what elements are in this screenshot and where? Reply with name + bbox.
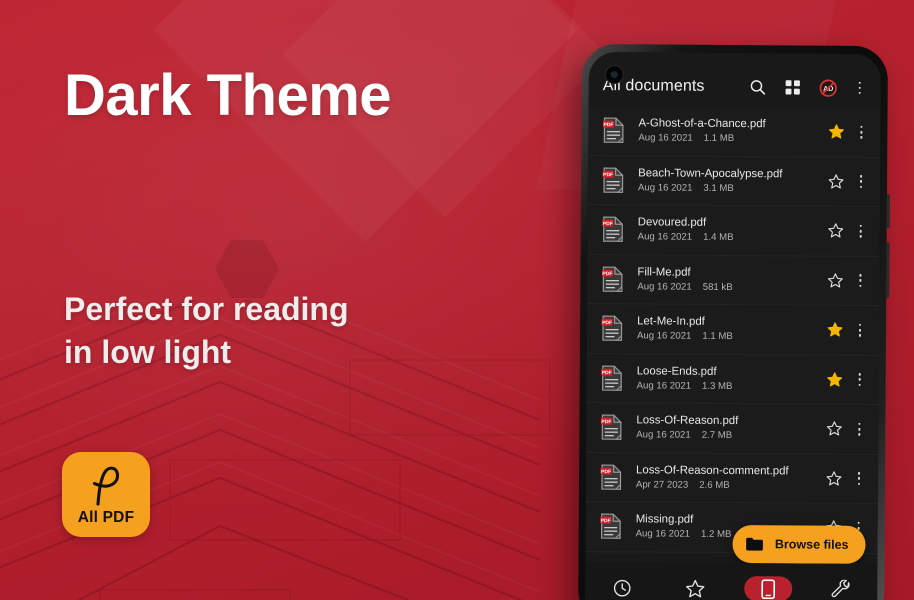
pdf-file-icon: PDF bbox=[601, 266, 624, 292]
file-info: Let-Me-In.pdf Aug 16 2021 1.1 MB bbox=[637, 315, 825, 344]
phone-power-button bbox=[886, 242, 889, 298]
file-date: Aug 16 2021 bbox=[637, 379, 692, 392]
pdf-file-icon: PDF bbox=[602, 117, 625, 143]
file-name: Devoured.pdf bbox=[638, 216, 826, 231]
file-name: Loose-Ends.pdf bbox=[637, 364, 825, 379]
svg-text:PDF: PDF bbox=[603, 221, 613, 227]
file-size: 3.1 MB bbox=[703, 182, 733, 195]
search-icon[interactable] bbox=[748, 77, 768, 97]
app-logo-label: All PDF bbox=[78, 509, 135, 527]
file-subtitle: Aug 16 2021 1.3 MB bbox=[637, 379, 825, 393]
pdf-file-icon: PDF bbox=[602, 167, 625, 193]
pdf-file-icon: PDF bbox=[602, 216, 625, 242]
file-overflow-menu-icon[interactable] bbox=[853, 320, 867, 340]
file-size: 1.2 MB bbox=[701, 528, 731, 541]
phone-mockup: All documents bbox=[578, 44, 888, 600]
phone-volume-button bbox=[887, 194, 890, 228]
browse-files-label: Browse files bbox=[775, 537, 849, 552]
pdf-file-icon: PDF bbox=[602, 167, 625, 193]
file-list-item[interactable]: PDF Devoured.pdf Aug 16 2021 1.4 MB bbox=[588, 205, 880, 257]
pdf-file-icon: PDF bbox=[600, 513, 623, 539]
pdf-file-icon: PDF bbox=[602, 216, 625, 242]
nav-item-pdf-tools[interactable]: PDF tools bbox=[804, 577, 877, 600]
file-list-item[interactable]: PDF Loss-Of-Reason.pdf Aug 16 2021 2.7 M… bbox=[586, 403, 878, 455]
file-name: Loss-Of-Reason-comment.pdf bbox=[636, 463, 824, 478]
no-ads-icon[interactable]: AD bbox=[818, 78, 838, 98]
pdf-file-icon: PDF bbox=[601, 365, 624, 391]
browse-files-button[interactable]: Browse files bbox=[733, 525, 866, 564]
file-list-item[interactable]: PDF Let-Me-In.pdf Aug 16 2021 1.1 MB bbox=[587, 304, 879, 356]
star-outline-icon[interactable] bbox=[826, 221, 846, 241]
pdf-file-icon: PDF bbox=[600, 414, 623, 440]
wrench-icon bbox=[817, 577, 865, 600]
promo-headline: Dark Theme bbox=[64, 66, 391, 127]
file-date: Aug 16 2021 bbox=[638, 231, 693, 244]
star-filled-icon[interactable] bbox=[825, 320, 845, 340]
pdf-file-icon: PDF bbox=[601, 315, 624, 341]
file-subtitle: Aug 16 2021 3.1 MB bbox=[638, 181, 826, 195]
app-bar: All documents bbox=[589, 52, 881, 108]
svg-text:PDF: PDF bbox=[602, 271, 612, 277]
star-filled-icon[interactable] bbox=[826, 122, 846, 142]
phone-icon bbox=[744, 576, 792, 600]
folder-icon bbox=[746, 537, 764, 551]
pdf-file-icon: PDF bbox=[601, 365, 624, 391]
all-pdf-glyph-icon bbox=[86, 464, 126, 508]
file-size: 581 kB bbox=[703, 281, 733, 294]
app-bar-actions: AD bbox=[748, 77, 869, 98]
svg-text:PDF: PDF bbox=[602, 320, 612, 326]
file-subtitle: Aug 16 2021 2.7 MB bbox=[636, 429, 824, 443]
file-date: Aug 16 2021 bbox=[638, 132, 693, 145]
svg-text:PDF: PDF bbox=[601, 469, 611, 475]
pdf-file-icon: PDF bbox=[600, 414, 623, 440]
file-date: Aug 16 2021 bbox=[638, 181, 693, 194]
svg-text:PDF: PDF bbox=[602, 370, 612, 376]
star-outline-icon bbox=[671, 576, 719, 600]
file-overflow-menu-icon[interactable] bbox=[853, 370, 867, 390]
star-filled-icon[interactable] bbox=[825, 369, 845, 389]
file-size: 1.4 MB bbox=[703, 231, 733, 244]
overflow-menu-icon[interactable] bbox=[853, 78, 867, 98]
nav-item-recents[interactable]: Recents bbox=[585, 575, 658, 600]
svg-text:PDF: PDF bbox=[601, 518, 611, 524]
nav-item-favorites[interactable]: Favorites bbox=[658, 575, 731, 600]
document-list[interactable]: PDF A-Ghost-of-a-Chance.pdf Aug 16 2021 … bbox=[585, 106, 880, 556]
svg-text:PDF: PDF bbox=[603, 172, 613, 178]
file-list-item[interactable]: PDF Loose-Ends.pdf Aug 16 2021 1.3 MB bbox=[587, 353, 879, 405]
file-name: Fill-Me.pdf bbox=[637, 265, 825, 280]
pdf-file-icon: PDF bbox=[600, 513, 623, 539]
nav-item-device[interactable]: Device bbox=[731, 576, 804, 600]
file-name: Let-Me-In.pdf bbox=[637, 315, 825, 330]
file-date: Apr 27 2023 bbox=[636, 478, 688, 491]
star-outline-icon[interactable] bbox=[824, 419, 844, 439]
grid-view-icon[interactable] bbox=[783, 77, 803, 97]
file-info: Loose-Ends.pdf Aug 16 2021 1.3 MB bbox=[637, 364, 825, 393]
star-outline-icon[interactable] bbox=[826, 171, 846, 191]
file-overflow-menu-icon[interactable] bbox=[854, 172, 868, 192]
file-list-item[interactable]: PDF A-Ghost-of-a-Chance.pdf Aug 16 2021 … bbox=[588, 106, 880, 158]
pdf-file-icon: PDF bbox=[601, 266, 624, 292]
file-date: Aug 16 2021 bbox=[636, 429, 691, 442]
file-size: 1.1 MB bbox=[702, 330, 732, 343]
file-list-item[interactable]: PDF Beach-Town-Apocalypse.pdf Aug 16 202… bbox=[588, 155, 880, 207]
file-overflow-menu-icon[interactable] bbox=[852, 419, 866, 439]
bottom-navigation[interactable]: Recents Favorites Device PDF tools bbox=[585, 562, 877, 600]
pdf-file-icon: PDF bbox=[600, 464, 623, 490]
file-size: 1.3 MB bbox=[702, 380, 732, 393]
app-logo-badge: All PDF bbox=[62, 452, 150, 537]
front-camera-icon bbox=[605, 65, 624, 84]
file-subtitle: Aug 16 2021 581 kB bbox=[637, 280, 825, 294]
svg-text:PDF: PDF bbox=[601, 419, 611, 425]
promo-banner: Dark Theme Perfect for reading in low li… bbox=[0, 0, 914, 600]
file-name: A-Ghost-of-a-Chance.pdf bbox=[638, 117, 826, 132]
pdf-file-icon: PDF bbox=[600, 464, 623, 490]
promo-subheadline: Perfect for reading in low light bbox=[64, 288, 349, 373]
file-info: Beach-Town-Apocalypse.pdf Aug 16 2021 3.… bbox=[638, 166, 826, 195]
file-subtitle: Apr 27 2023 2.6 MB bbox=[636, 478, 824, 492]
file-info: Devoured.pdf Aug 16 2021 1.4 MB bbox=[638, 216, 826, 245]
file-subtitle: Aug 16 2021 1.1 MB bbox=[637, 330, 825, 344]
file-info: Loss-Of-Reason.pdf Aug 16 2021 2.7 MB bbox=[636, 414, 824, 443]
file-name: Loss-Of-Reason.pdf bbox=[636, 414, 824, 429]
promo-subheadline-line2: in low light bbox=[64, 331, 349, 374]
file-overflow-menu-icon[interactable] bbox=[853, 271, 867, 291]
file-overflow-menu-icon[interactable] bbox=[852, 469, 866, 489]
clock-icon bbox=[598, 575, 646, 600]
file-info: Loss-Of-Reason-comment.pdf Apr 27 2023 2… bbox=[636, 463, 824, 492]
file-subtitle: Aug 16 2021 1.1 MB bbox=[638, 132, 826, 146]
file-date: Aug 16 2021 bbox=[636, 528, 691, 541]
file-info: Fill-Me.pdf Aug 16 2021 581 kB bbox=[637, 265, 825, 294]
file-overflow-menu-icon[interactable] bbox=[854, 221, 868, 241]
file-size: 2.7 MB bbox=[702, 429, 732, 442]
promo-subheadline-line1: Perfect for reading bbox=[64, 288, 349, 331]
page-title: All documents bbox=[603, 77, 748, 96]
file-size: 2.6 MB bbox=[699, 479, 729, 492]
file-info: A-Ghost-of-a-Chance.pdf Aug 16 2021 1.1 … bbox=[638, 117, 826, 146]
file-list-item[interactable]: PDF Fill-Me.pdf Aug 16 2021 581 kB bbox=[587, 254, 879, 306]
file-name: Beach-Town-Apocalypse.pdf bbox=[638, 166, 826, 181]
file-overflow-menu-icon[interactable] bbox=[854, 122, 868, 142]
file-date: Aug 16 2021 bbox=[637, 330, 692, 343]
file-list-item[interactable]: PDF Loss-Of-Reason-comment.pdf Apr 27 20… bbox=[586, 452, 878, 504]
file-size: 1.1 MB bbox=[704, 132, 734, 145]
svg-text:PDF: PDF bbox=[603, 122, 613, 128]
star-outline-icon[interactable] bbox=[824, 468, 844, 488]
phone-screen: All documents bbox=[585, 52, 881, 600]
file-date: Aug 16 2021 bbox=[637, 280, 692, 293]
pdf-file-icon: PDF bbox=[602, 117, 625, 143]
pdf-file-icon: PDF bbox=[601, 315, 624, 341]
file-subtitle: Aug 16 2021 1.4 MB bbox=[638, 231, 826, 245]
star-outline-icon[interactable] bbox=[825, 270, 845, 290]
